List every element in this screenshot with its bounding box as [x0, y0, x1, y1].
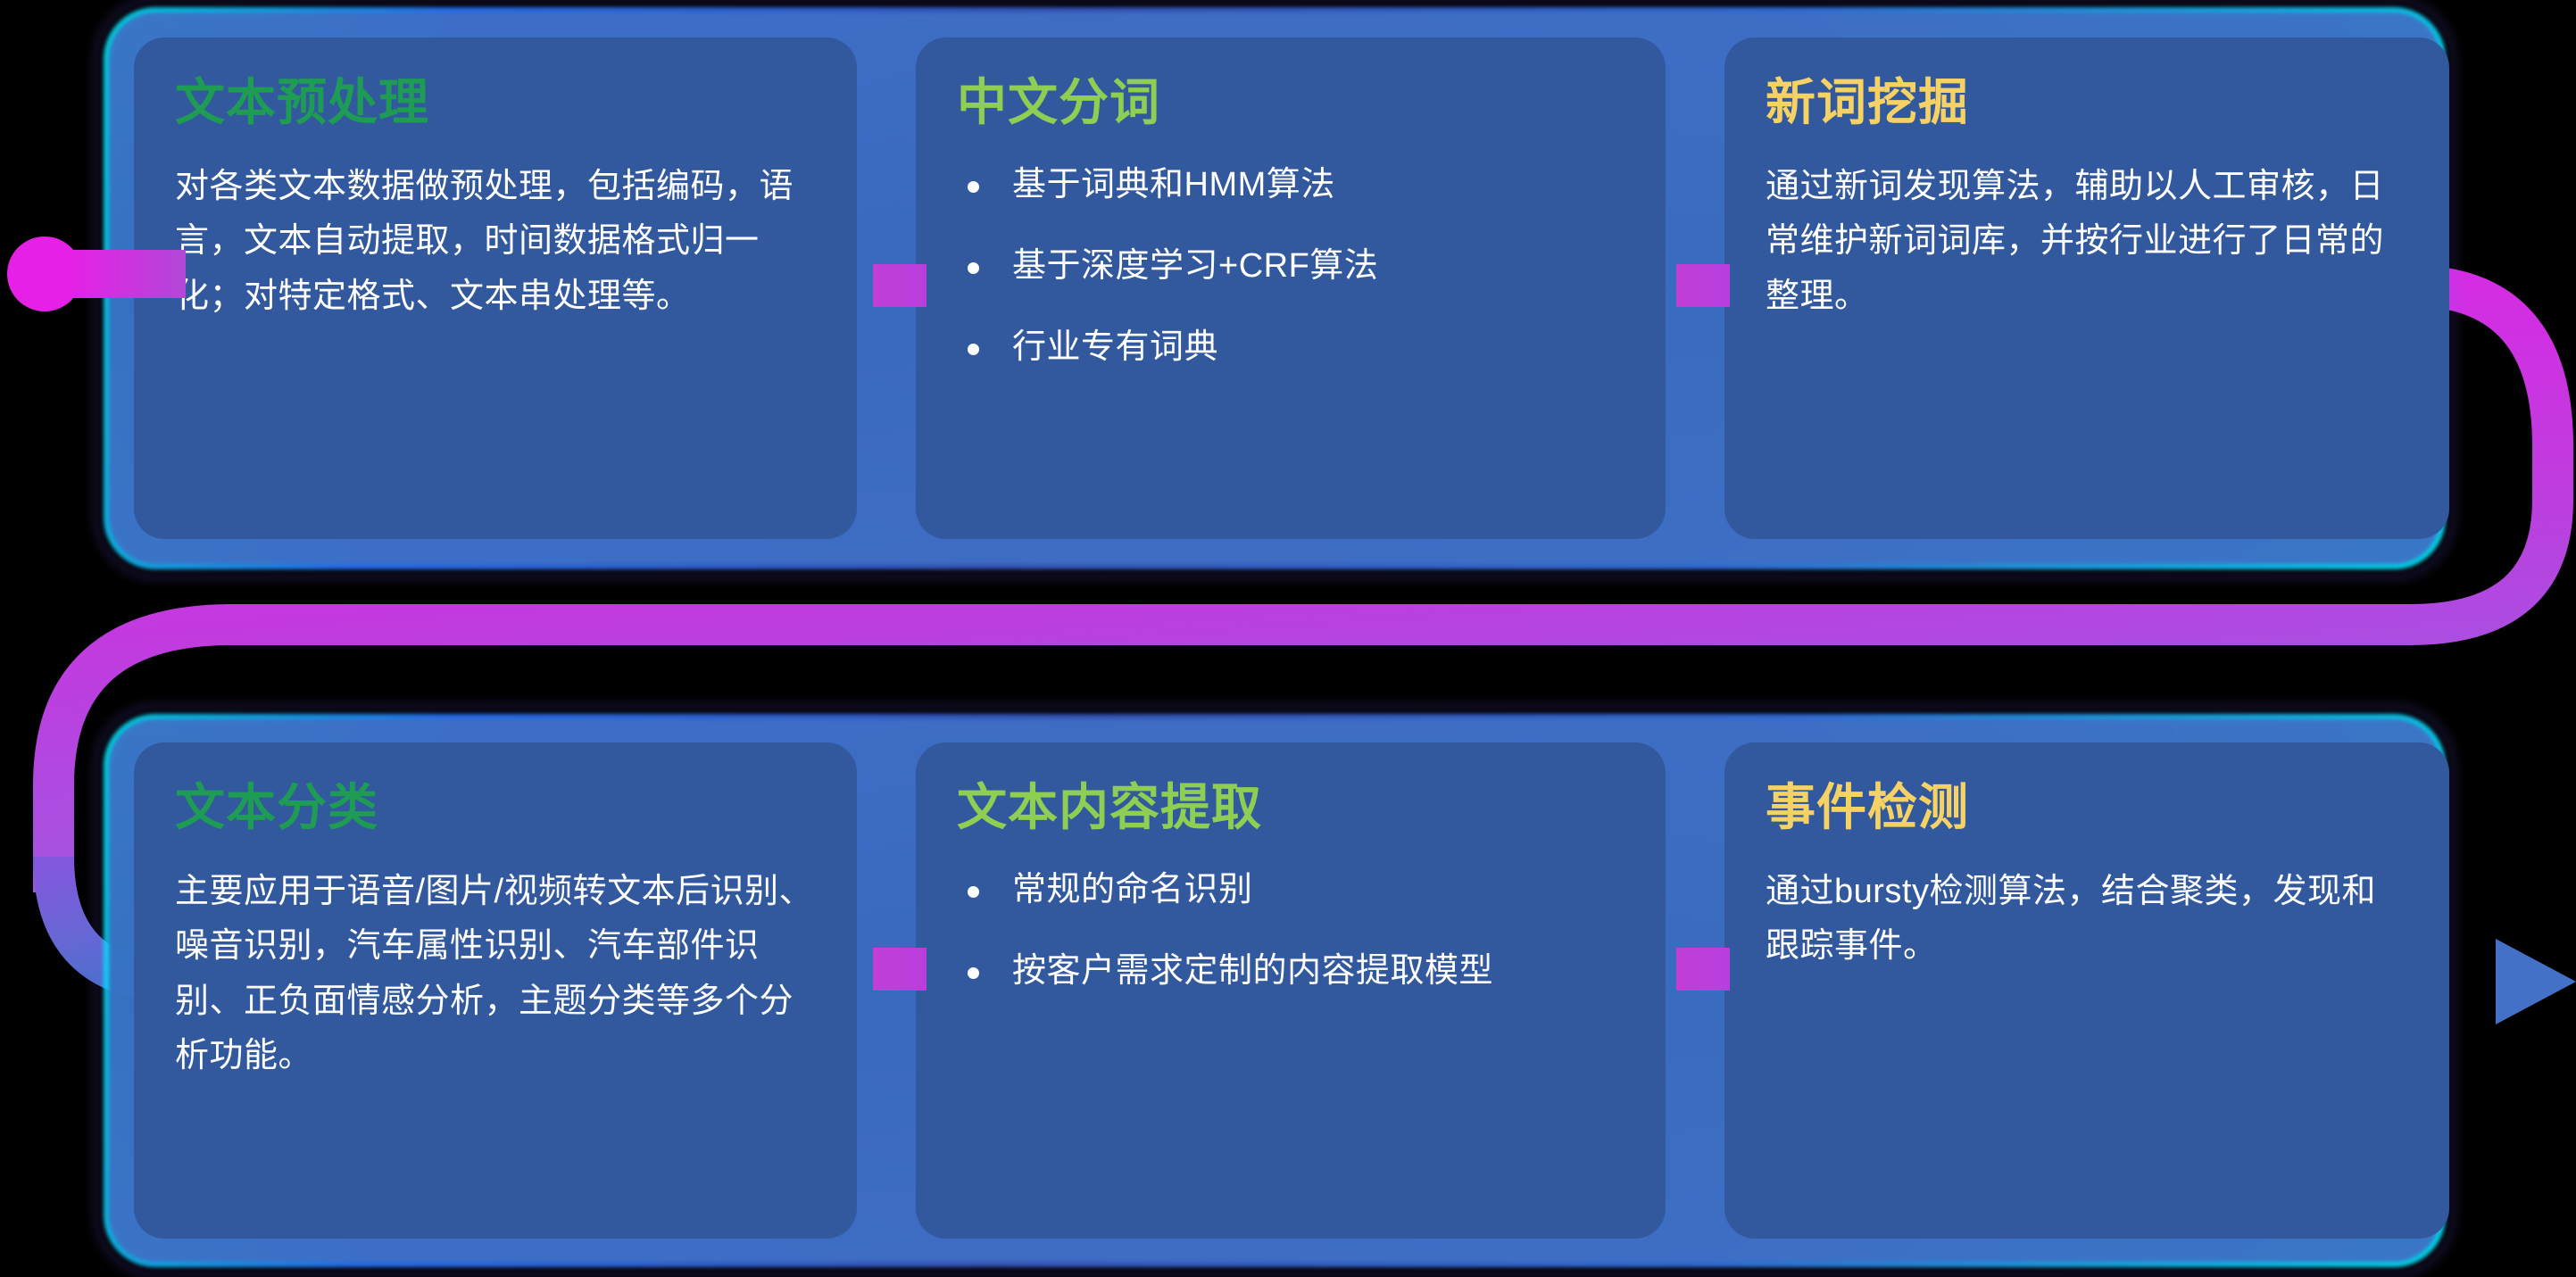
card-bullet-list: 基于词典和HMM算法 基于深度学习+CRF算法 行业专有词典 — [957, 160, 1625, 373]
arrow-right-icon — [2496, 939, 2576, 1024]
diagram-canvas: 文本预处理 对各类文本数据做预处理，包括编码，语言，文本自动提取，时间数据格式归… — [0, 0, 2576, 1277]
list-item: 按客户需求定制的内容提取模型 — [957, 946, 1625, 997]
card-paragraph: 通过新词发现算法，辅助以人工审核，日常维护新词词库，并按行业进行了日常的整理。 — [1766, 160, 2408, 325]
card-title: 文本内容提取 — [957, 782, 1625, 834]
link-bar-2-3 — [1676, 264, 1730, 307]
card-paragraph: 主要应用于语音/图片/视频转文本后识别、噪音识别，汽车属性识别、汽车部件识别、正… — [175, 865, 816, 1084]
card-title: 文本分类 — [175, 782, 816, 834]
card-bullet-list: 常规的命名识别 按客户需求定制的内容提取模型 — [957, 865, 1625, 997]
card-paragraph: 对各类文本数据做预处理，包括编码，语言，文本自动提取，时间数据格式归一化；对特定… — [175, 160, 816, 325]
list-item: 基于词典和HMM算法 — [957, 160, 1625, 211]
flow-start-stem — [70, 250, 186, 298]
card-chinese-segmentation[interactable]: 中文分词 基于词典和HMM算法 基于深度学习+CRF算法 行业专有词典 — [916, 37, 1666, 539]
card-title: 文本预处理 — [175, 77, 816, 129]
list-item: 行业专有词典 — [957, 322, 1625, 373]
link-bar-4-5 — [873, 948, 927, 991]
list-item: 常规的命名识别 — [957, 865, 1625, 916]
list-item: 基于深度学习+CRF算法 — [957, 241, 1625, 292]
card-title: 事件检测 — [1766, 782, 2408, 834]
card-new-word-mining[interactable]: 新词挖掘 通过新词发现算法，辅助以人工审核，日常维护新词词库，并按行业进行了日常… — [1724, 37, 2449, 539]
card-text-preprocessing[interactable]: 文本预处理 对各类文本数据做预处理，包括编码，语言，文本自动提取，时间数据格式归… — [134, 37, 857, 539]
link-bar-5-6 — [1676, 948, 1730, 991]
link-bar-1-2 — [873, 264, 927, 307]
card-content-extraction[interactable]: 文本内容提取 常规的命名识别 按客户需求定制的内容提取模型 — [916, 742, 1666, 1239]
card-event-detection[interactable]: 事件检测 通过bursty检测算法，结合聚类，发现和跟踪事件。 — [1724, 742, 2449, 1239]
card-paragraph: 通过bursty检测算法，结合聚类，发现和跟踪事件。 — [1766, 865, 2408, 974]
card-text-classification[interactable]: 文本分类 主要应用于语音/图片/视频转文本后识别、噪音识别，汽车属性识别、汽车部… — [134, 742, 857, 1239]
card-title: 新词挖掘 — [1766, 77, 2408, 129]
card-title: 中文分词 — [957, 77, 1625, 129]
